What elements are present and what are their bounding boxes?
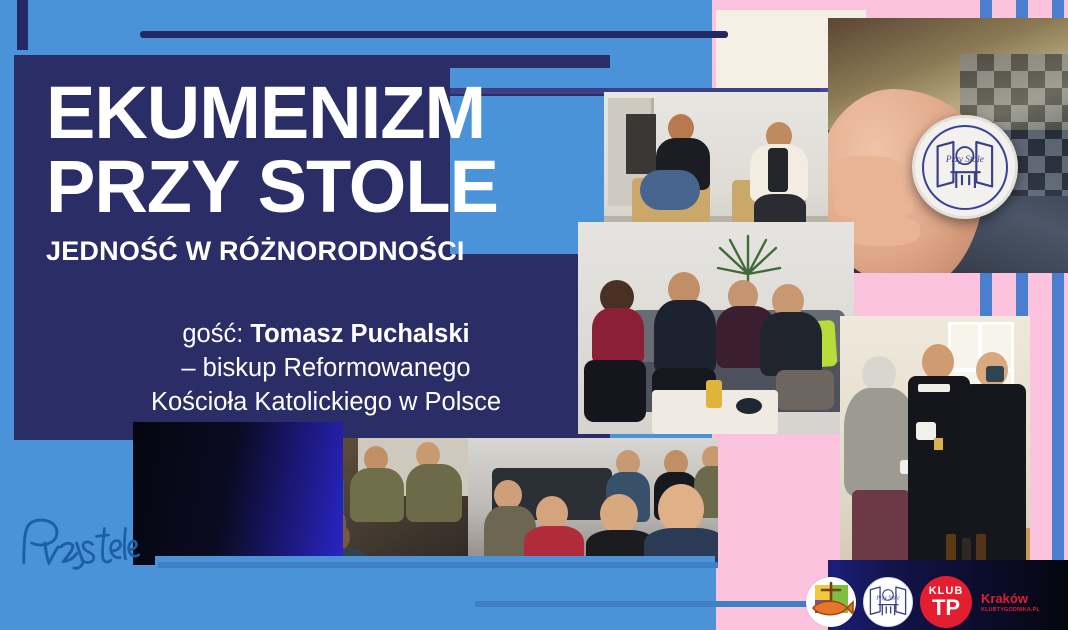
dark-gradient-block-left: [133, 422, 343, 572]
photo-clergy: [840, 316, 1030, 568]
guest-name-line: gość: Tomasz Puchalski: [46, 318, 606, 352]
guest-block: gość: Tomasz Puchalski – biskup Reformow…: [46, 318, 606, 420]
table-chairs-icon: Przy Stole: [866, 580, 910, 624]
photo-badge: Przy Stole: [828, 18, 1068, 273]
bottom-rule-1: [158, 562, 718, 568]
table-chairs-icon: Przy Stole: [929, 132, 1001, 204]
guest-role-line-1: – biskup Reformowanego: [46, 352, 606, 386]
title-line-1: EKUMENIZM: [46, 82, 606, 144]
przy-stole-script-logo: [8, 505, 140, 573]
bottom-blue-band: [0, 565, 716, 630]
kik-fish-cross-logo[interactable]: [806, 577, 856, 627]
footer-logos: Przy Stole KLUB TP Kraków KLUBTYGODNIKA.…: [806, 576, 1040, 628]
photo-armchairs: [604, 92, 834, 238]
klub-tp-text: Kraków KLUBTYGODNIKA.PL: [981, 592, 1040, 613]
badge-script-label: Przy Stole: [945, 155, 984, 165]
photo-group: [578, 222, 854, 434]
przy-stole-badge: Przy Stole: [912, 115, 1018, 220]
title-line-2: PRZY STOLE: [46, 156, 606, 218]
bottom-rule-2: [475, 601, 825, 607]
guest-name: Tomasz Puchalski: [250, 320, 469, 348]
navy-rule-top: [140, 31, 728, 38]
cross-fish-icon: [806, 577, 856, 627]
guest-role-line-2: Kościoła Katolickiego w Polsce: [46, 386, 606, 420]
klub-tp-city: Kraków: [981, 592, 1040, 605]
przy-stole-logo-script: Przy Stole: [875, 595, 900, 601]
headline-block: EKUMENIZM PRZY STOLE JEDNOŚĆ W RÓŻNORODN…: [46, 82, 606, 263]
photo-selfie: [468, 438, 718, 566]
navy-vertical-accent: [17, 0, 28, 50]
klub-tp-line2: TP: [932, 598, 960, 619]
klub-tp-url: KLUBTYGODNIKA.PL: [981, 607, 1040, 613]
guest-prefix: gość:: [182, 320, 243, 348]
subtitle: JEDNOŚĆ W RÓŻNORODNOŚCI: [46, 240, 606, 263]
przy-stole-logo[interactable]: Przy Stole: [863, 577, 913, 627]
klub-tp-badge[interactable]: KLUB TP: [920, 576, 972, 628]
poster-canvas: Przy Stole: [0, 0, 1068, 630]
